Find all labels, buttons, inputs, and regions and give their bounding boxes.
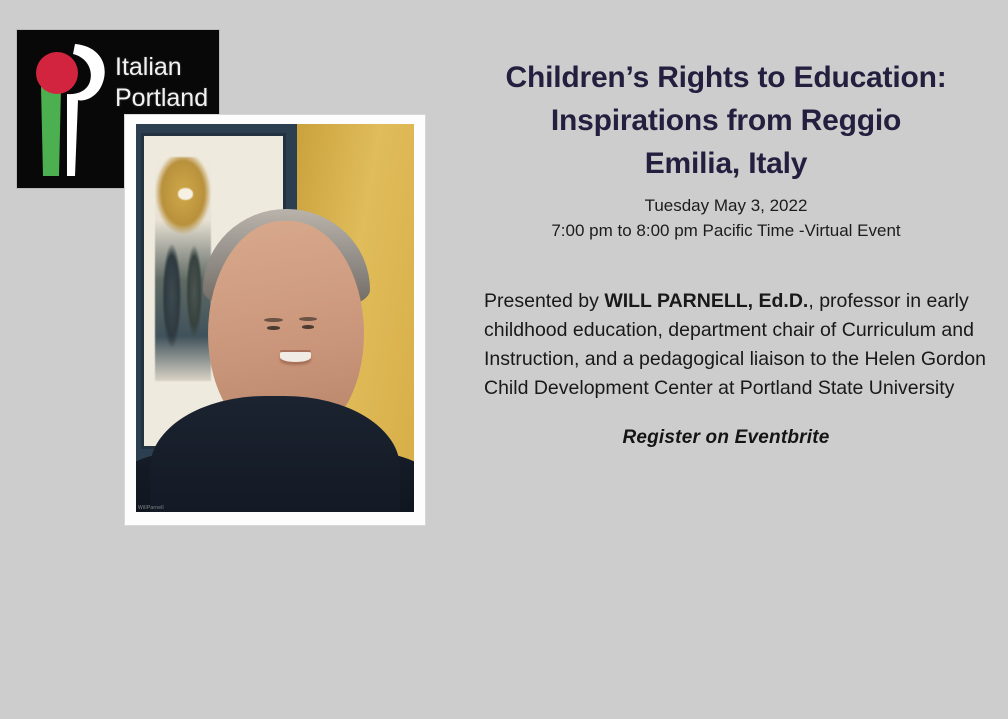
photo-artwork-highlight [178,188,193,199]
logo-wordmark: Italian Portland [115,52,208,114]
logo-line-portland: Portland [115,83,208,114]
event-details: Children’s Rights to Education: Inspirat… [452,56,1000,449]
bio-prefix: Presented by [484,290,604,312]
speaker-photo-frame: WillParnell [125,115,425,525]
event-flyer: Italian Portland WillParnell [0,0,1008,719]
photo-eyebrow-right [299,317,318,321]
event-title: Children’s Rights to Education: Inspirat… [452,56,1000,185]
speaker-photo: WillParnell [136,124,414,512]
photo-smile [280,352,311,362]
photo-eye-right [302,325,314,328]
event-time: 7:00 pm to 8:00 pm Pacific Time -Virtual… [452,218,1000,243]
event-title-line-1: Children’s Rights to Education: [452,56,1000,99]
logo-line-italian: Italian [115,52,208,83]
event-title-line-3: Emilia, Italy [452,142,1000,185]
register-cta[interactable]: Register on Eventbrite [452,427,1000,449]
event-date: Tuesday May 3, 2022 [452,193,1000,218]
presenter-bio: Presented by WILL PARNELL, Ed.D., profes… [452,287,1000,403]
photo-eye-left [267,326,279,329]
italian-portland-ip-monogram-icon [31,38,109,180]
event-title-line-2: Inspirations from Reggio [452,99,1000,142]
photo-caption: WillParnell [138,505,164,511]
presenter-name: WILL PARNELL, Ed.D. [604,290,808,312]
photo-eyebrow-left [264,318,283,322]
register-on-eventbrite-link[interactable]: Register on Eventbrite [622,427,829,448]
